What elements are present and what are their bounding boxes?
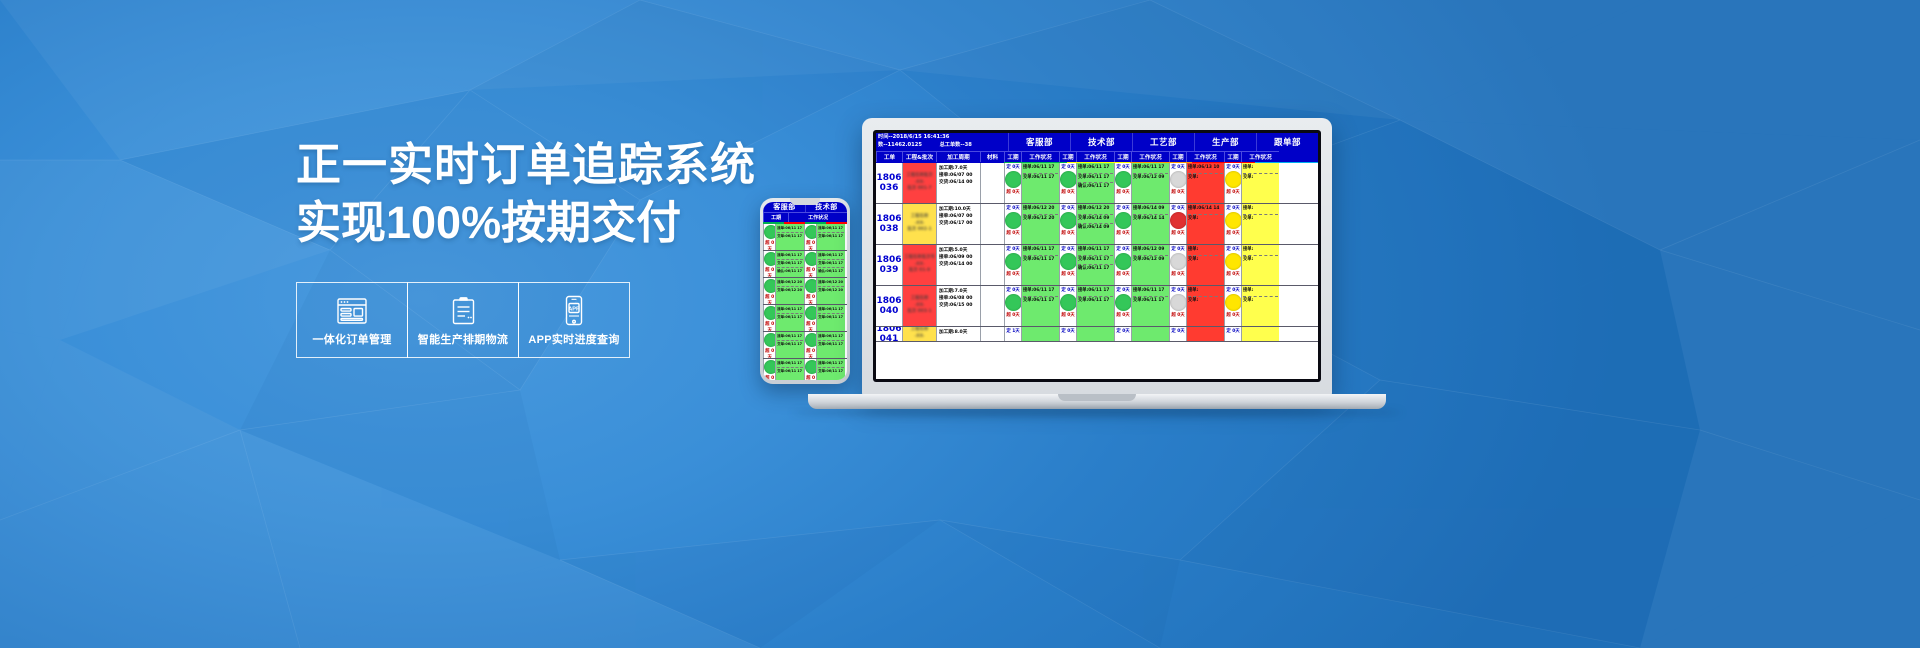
duration-overdue: 超 0天 (764, 294, 775, 304)
status-indicator-dot[interactable] (805, 333, 816, 347)
duration-overdue: 超 0天 (1225, 230, 1241, 236)
work-status-line: 接单:06/12 20 (818, 279, 844, 287)
phone-work-status-cell: 接单:06/11 17交单:06/11 17 (775, 224, 804, 250)
phone-work-status-cell: 接单:06/11 17交单:06/11 17 (816, 332, 845, 358)
work-status-line: 交单:06/11 17 (818, 314, 844, 321)
meta-number: 数--11462.0125 (878, 142, 922, 148)
duration-cell: 定 0天超 0天 (1224, 245, 1241, 285)
work-status-line: 接单: (1188, 287, 1223, 296)
duration-cell: 定 0天超 0天 (1114, 286, 1131, 326)
work-status-cell: 接单:交单: (1186, 245, 1224, 285)
column-header: 工作状况 (1021, 151, 1059, 162)
work-status-line: 交单:06/14 09 (1078, 215, 1113, 224)
phone-work-status-cell: 接单:06/11 17交单:06/11 17 (775, 359, 804, 381)
laptop-base-notch (1058, 394, 1136, 401)
work-status-line: 接单:06/11 17 (818, 225, 844, 233)
order-number-cell: 1806036 (876, 163, 902, 203)
duration-planned: 定 0天 (1170, 245, 1186, 252)
phone-work-status-cell: 接单:06/12 20交单:06/12 20 (816, 278, 845, 304)
duration-overdue: 超 0天 (1005, 189, 1021, 195)
laptop-shadow (792, 409, 1402, 416)
phone-work-status-cell: 接单:06/11 17交单:06/11 17确认:06/11 17 (816, 251, 845, 277)
work-status-line: 确认:06/11 17 (1078, 183, 1113, 191)
work-status-line: 交单: (1188, 297, 1223, 305)
duration-overdue: 超 0天 (764, 348, 775, 358)
duration-planned: 定 0天 (1005, 286, 1021, 293)
work-status-line: 交单: (1188, 174, 1223, 182)
feature-label: 智能生产排期物流 (418, 331, 508, 347)
duration-cell: 定 0天超 0天 (1169, 163, 1186, 203)
column-header: 工作状况 (1241, 151, 1279, 162)
work-status-line: 交单:06/11 17 (1078, 174, 1113, 183)
status-indicator-dot[interactable] (1115, 294, 1131, 311)
work-status-line: 接单:06/11 17 (777, 306, 803, 314)
laptop-bezel: 时间--2018/6/15 16:41:36 数--11462.0125 总工单… (873, 130, 1321, 382)
phone-duration-cell: 超 0天定 0天 (763, 305, 775, 331)
order-tracking-dashboard: 时间--2018/6/15 16:41:36 数--11462.0125 总工单… (876, 133, 1318, 379)
processing-cycle-cell: 加工期:5.0天 接单:06/09 00 交货:06/14 00 (936, 245, 980, 285)
project-batch-cell: 工程名称 -XX- 批次 002-1 (902, 204, 936, 244)
processing-cycle-cell: 加工期:10.0天 接单:06/07 00 交货:06/17 00 (936, 204, 980, 244)
work-status-line: 交单: (1188, 215, 1223, 223)
duration-planned: 定 0天 (1115, 204, 1131, 211)
phone-dashboard: 客服部技术部 工期工作状况工期工作状况 超 0天定 0天接单:06/11 17交… (763, 202, 847, 380)
feature-label: 一体化订单管理 (312, 331, 391, 347)
duration-overdue: 超 0天 (1170, 271, 1186, 277)
phone-table-row[interactable]: 超 0天定 0天接单:06/11 17交单:06/11 17超 0天定 0天接单… (763, 359, 847, 381)
duration-overdue: 超 0天 (805, 321, 816, 331)
work-status-line: 接单:06/12 20 (777, 279, 803, 287)
duration-overdue: 超 0天 (764, 267, 775, 277)
duration-overdue: 超 0天 (1115, 230, 1131, 236)
status-indicator-dot[interactable] (1005, 212, 1021, 229)
work-status-line: 接单:06/13 10 (1188, 164, 1223, 173)
status-indicator-dot[interactable] (1005, 253, 1021, 270)
duration-planned: 定 0天 (1115, 327, 1131, 334)
work-status-line: 交单:06/11 17 (1023, 297, 1058, 305)
work-status-line: 接单: (1243, 205, 1278, 214)
duration-overdue: 超 0天 (1225, 312, 1241, 318)
duration-planned: 定 0天 (1005, 163, 1021, 170)
duration-planned: 定 0天 (1225, 245, 1241, 252)
phone-table-body[interactable]: 超 0天定 0天接单:06/11 17交单:06/11 17超 0天定 0天接单… (763, 224, 847, 381)
column-header: 工作状况 (1186, 151, 1224, 162)
duration-planned: 定 0天 (1005, 245, 1021, 252)
duration-overdue: 超 0天 (764, 375, 775, 381)
duration-planned: 定 0天 (1060, 286, 1076, 293)
duration-overdue: 超 0天 (1060, 189, 1076, 195)
duration-cell: 定 0天超 0天 (1114, 163, 1131, 203)
work-status-line: 接单:06/12 20 (1023, 205, 1058, 214)
laptop-screen[interactable]: 时间--2018/6/15 16:41:36 数--11462.0125 总工单… (876, 133, 1318, 379)
meta-total: 总工单数--38 (940, 142, 972, 148)
duration-planned: 定 0天 (1115, 286, 1131, 293)
column-header: 工期 (1169, 151, 1186, 162)
status-indicator-dot[interactable] (1225, 294, 1241, 311)
work-status-line: 交单:06/12 20 (1023, 215, 1058, 223)
work-status-line: 接单:06/11 17 (1023, 246, 1058, 255)
phone-table-row[interactable]: 超 0天定 0天接单:06/11 17交单:06/11 17超 0天定 0天接单… (763, 224, 847, 251)
processing-cycle-cell: 加工期:7.0天 接单:06/08 00 交货:06/15 00 (936, 286, 980, 326)
duration-cell: 定 0天超 0天 (1224, 163, 1241, 203)
duration-planned: 定 0天 (1060, 204, 1076, 211)
work-status-line: 接单:06/11 17 (818, 306, 844, 314)
work-status-cell: 接单:06/12 20交单:06/12 20 (1021, 204, 1059, 244)
work-status-line: 交单:06/14 14 (1133, 215, 1168, 223)
phone-column-header: 工作状况 (788, 212, 847, 222)
work-status-line: 交单: (1243, 297, 1278, 305)
duration-overdue: 超 0天 (805, 267, 816, 277)
work-status-cell (1186, 327, 1224, 341)
work-status-cell: 接单:06/11 17交单:06/12 09 (1131, 163, 1169, 203)
dashboard-header: 时间--2018/6/15 16:41:36 数--11462.0125 总工单… (876, 133, 1318, 151)
phone-screen[interactable]: 客服部技术部 工期工作状况工期工作状况 超 0天定 0天接单:06/11 17交… (763, 202, 847, 380)
status-indicator-dot[interactable] (1170, 212, 1186, 229)
department-header: 工艺部 (1132, 133, 1194, 151)
work-status-line: 接单:06/11 17 (777, 252, 803, 260)
duration-planned: 定 0天 (1115, 245, 1131, 252)
status-indicator-dot[interactable] (764, 279, 775, 293)
duration-overdue: 超 0天 (1005, 230, 1021, 236)
work-status-line: 交单:06/11 17 (777, 260, 803, 268)
duration-planned: 定 0天 (1170, 286, 1186, 293)
phone-work-status-cell: 接单:06/11 17交单:06/11 17 (816, 305, 845, 331)
duration-cell: 定 0天超 0天 (1114, 245, 1131, 285)
work-status-cell: 接单:交单: (1241, 245, 1279, 285)
duration-planned: 定 0天 (1170, 163, 1186, 170)
duration-planned: 定 0天 (1005, 204, 1021, 211)
duration-planned: 定 0天 (1225, 286, 1241, 293)
status-indicator-dot[interactable] (805, 225, 816, 239)
status-indicator-dot[interactable] (1115, 253, 1131, 270)
laptop-mockup: 时间--2018/6/15 16:41:36 数--11462.0125 总工单… (862, 118, 1332, 418)
status-indicator-dot[interactable] (764, 252, 775, 266)
table-row[interactable]: 1806038工程名称 -XX- 批次 002-1加工期:10.0天 接单:06… (876, 204, 1318, 245)
status-indicator-dot[interactable] (1170, 294, 1186, 311)
headline-line-1: 正一实时订单追踪系统 (296, 136, 916, 194)
phone-work-status-cell: 接单:06/11 17交单:06/11 17 (816, 224, 845, 250)
duration-overdue: 超 0天 (1060, 271, 1076, 277)
status-indicator-dot[interactable] (1225, 212, 1241, 229)
status-indicator-dot[interactable] (1060, 212, 1076, 229)
work-status-line: 接单:06/11 17 (1078, 287, 1113, 296)
status-indicator-dot[interactable] (764, 360, 775, 374)
work-status-cell: 接单:06/11 17交单:06/11 17确认:06/11 17 (1076, 163, 1114, 203)
work-status-line: 接单:06/12 09 (1133, 246, 1168, 255)
duration-overdue: 超 0天 (764, 321, 775, 331)
column-header: 工作状况 (1076, 151, 1114, 162)
duration-cell: 定 0天超 0天 (1169, 286, 1186, 326)
phone-duration-cell: 超 0天定 0天 (763, 251, 775, 277)
status-indicator-dot[interactable] (1115, 212, 1131, 229)
work-status-line: 接单:06/11 17 (818, 333, 844, 341)
work-status-cell: 接单:06/12 09交单:06/12 09 (1131, 245, 1169, 285)
status-indicator-dot[interactable] (764, 225, 775, 239)
duration-planned: 定 0天 (1170, 327, 1186, 334)
column-header: 工程&批次 (902, 151, 936, 162)
table-row[interactable]: 1806036工程名称批次 -XX- 批次 001-7加工期:7.0天 接单:0… (876, 163, 1318, 204)
work-status-line: 交单:06/12 20 (777, 287, 803, 294)
department-header: 技术部 (1070, 133, 1132, 151)
duration-cell: 定 0天 (1224, 327, 1241, 341)
work-status-cell: 接单:06/11 17交单:06/11 17 (1131, 286, 1169, 326)
processing-cycle-cell: 加工期:7.0天 接单:06/07 00 交货:06/14 00 (936, 163, 980, 203)
work-status-line: 接单:06/11 17 (1133, 164, 1168, 173)
phone-duration-cell: 超 0天定 0天 (804, 359, 816, 381)
phone-duration-cell: 超 0天定 0天 (804, 305, 816, 331)
duration-cell: 定 0天超 0天 (1059, 204, 1076, 244)
duration-overdue: 超 0天 (1170, 230, 1186, 236)
work-status-cell: 接单:06/11 17交单:06/11 17 (1076, 286, 1114, 326)
status-indicator-dot[interactable] (805, 252, 816, 266)
phone-work-status-cell: 接单:06/11 17交单:06/11 17 (775, 332, 804, 358)
column-header: 工期 (1004, 151, 1021, 162)
status-indicator-dot[interactable] (1005, 294, 1021, 311)
work-status-line: 接单: (1243, 246, 1278, 255)
column-header: 工期 (1059, 151, 1076, 162)
work-status-line: 接单:06/11 17 (1023, 164, 1058, 173)
work-status-line: 确认:06/11 17 (777, 268, 803, 275)
status-indicator-dot[interactable] (1060, 171, 1076, 188)
status-indicator-dot[interactable] (805, 306, 816, 320)
status-indicator-dot[interactable] (1005, 171, 1021, 188)
status-indicator-dot[interactable] (805, 279, 816, 293)
phone-table-row[interactable]: 超 0天定 0天接单:06/12 20交单:06/12 20超 0天定 0天接单… (763, 278, 847, 305)
work-status-cell: 接单:交单: (1186, 286, 1224, 326)
material-cell (980, 327, 1004, 341)
column-header-row: 工单工程&批次加工周期材料工期工作状况工期工作状况工期工作状况工期工作状况工期工… (876, 151, 1318, 162)
column-header: 材料 (980, 151, 1004, 162)
work-status-line: 交单:06/11 17 (1133, 297, 1168, 305)
duration-planned: 定 0天 (1115, 163, 1131, 170)
duration-planned: 定 0天 (1060, 327, 1076, 334)
duration-cell: 定 0天超 0天 (1224, 204, 1241, 244)
material-cell (980, 204, 1004, 244)
order-number-cell: 1806041 (876, 327, 902, 341)
clipboard-schedule-icon (450, 294, 477, 328)
feature-box-app-progress[interactable]: APP APP实时进度查询 (518, 282, 630, 358)
work-status-line: 交单: (1243, 256, 1278, 264)
status-indicator-dot[interactable] (1060, 294, 1076, 311)
phone-duration-cell: 超 0天定 0天 (763, 359, 775, 381)
work-status-cell (1241, 327, 1279, 341)
work-status-line: 交单:06/11 17 (1078, 297, 1113, 305)
table-row[interactable]: 1806041工程名称 -XX-加工期:8.0天定 1天定 0天定 0天定 0天… (876, 327, 1318, 342)
phone-work-status-cell: 接单:06/11 17交单:06/11 17 (816, 359, 845, 381)
duration-overdue: 超 0天 (1115, 312, 1131, 318)
department-header: 跟单部 (1256, 133, 1318, 151)
duration-planned: 定 0天 (1225, 327, 1241, 334)
duration-cell: 定 0天超 0天 (1224, 286, 1241, 326)
phone-table-row[interactable]: 超 0天定 0天接单:06/11 17交单:06/11 17超 0天定 0天接单… (763, 305, 847, 332)
duration-planned: 定 0天 (1225, 163, 1241, 170)
work-status-cell: 接单:06/11 17交单:06/11 17 (1021, 163, 1059, 203)
project-batch-cell: 工程名称批次 -XX- 批次 001-7 (902, 163, 936, 203)
material-cell (980, 163, 1004, 203)
duration-cell: 定 1天 (1004, 327, 1021, 341)
mobile-app-icon: APP (563, 294, 585, 328)
work-status-line: 交单:06/11 17 (1023, 256, 1058, 264)
status-indicator-dot[interactable] (1170, 171, 1186, 188)
work-status-line: 接单:06/11 17 (1078, 246, 1113, 255)
table-row[interactable]: 1806040工程名称 -XX- 批次 003-1加工期:7.0天 接单:06/… (876, 286, 1318, 327)
duration-overdue: 超 0天 (1005, 271, 1021, 277)
work-status-line: 接单: (1243, 164, 1278, 173)
duration-overdue: 超 0天 (764, 240, 775, 250)
phone-column-header: 工期 (763, 212, 788, 222)
work-status-line: 交单:06/11 17 (1078, 256, 1113, 265)
work-status-line: 交单:06/11 17 (818, 260, 844, 268)
duration-cell: 定 0天 (1059, 327, 1076, 341)
department-row: 客服部技术部工艺部生产部跟单部 (1008, 133, 1318, 151)
status-indicator-dot[interactable] (1225, 171, 1241, 188)
work-status-line: 接单:06/12 20 (1078, 205, 1113, 214)
phone-duration-cell: 超 0天定 0天 (804, 224, 816, 250)
work-status-cell: 接单:06/13 10交单: (1186, 163, 1224, 203)
work-status-line: 接单: (1243, 287, 1278, 296)
work-status-line: 交单:06/12 09 (1133, 174, 1168, 182)
work-status-line: 接单:06/11 17 (818, 360, 844, 368)
department-header: 生产部 (1194, 133, 1256, 151)
project-batch-cell: 工程名称 -XX- (902, 327, 936, 341)
work-status-cell: 接单:06/11 17交单:06/11 17确认:06/11 17 (1076, 245, 1114, 285)
work-status-line: 交单:06/11 17 (818, 341, 844, 348)
work-status-line: 接单:06/14 09 (1133, 205, 1168, 214)
order-number-cell: 1806038 (876, 204, 902, 244)
column-header: 工单 (876, 151, 902, 162)
work-status-line: 交单:06/11 17 (777, 233, 803, 240)
duration-overdue: 超 0天 (805, 294, 816, 304)
duration-cell: 定 0天超 0天 (1004, 163, 1021, 203)
status-indicator-dot[interactable] (764, 306, 775, 320)
duration-cell: 定 0天超 0天 (1169, 204, 1186, 244)
laptop-lid: 时间--2018/6/15 16:41:36 数--11462.0125 总工单… (862, 118, 1332, 396)
status-indicator-dot[interactable] (764, 333, 775, 347)
work-status-cell: 接单:交单: (1241, 286, 1279, 326)
order-number-cell: 1806039 (876, 245, 902, 285)
work-status-line: 交单:06/11 17 (777, 341, 803, 348)
work-status-line: 接单:06/11 17 (1023, 287, 1058, 296)
duration-cell: 定 0天超 0天 (1059, 245, 1076, 285)
duration-cell: 定 0天超 0天 (1059, 286, 1076, 326)
work-status-cell: 接单:06/12 20交单:06/14 09确认:06/14 09 (1076, 204, 1114, 244)
dashboard-layout-icon (337, 294, 367, 328)
phone-duration-cell: 超 0天定 0天 (804, 251, 816, 277)
phone-duration-cell: 超 0天定 0天 (763, 278, 775, 304)
feature-box-production-scheduling[interactable]: 智能生产排期物流 (407, 282, 519, 358)
phone-work-status-cell: 接单:06/12 20交单:06/12 20 (775, 278, 804, 304)
duration-cell: 定 0天超 0天 (1004, 286, 1021, 326)
phone-table-row[interactable]: 超 0天定 0天接单:06/11 17交单:06/11 17确认:06/11 1… (763, 251, 847, 278)
work-status-line: 交单:06/12 09 (1133, 256, 1168, 264)
meta-time: 时间--2018/6/15 16:41:36 (878, 134, 1006, 142)
phone-notch (790, 198, 820, 205)
work-status-line: 接单:06/11 17 (777, 360, 803, 368)
work-status-line: 确认:06/11 17 (1078, 265, 1113, 273)
svg-text:APP: APP (568, 306, 580, 312)
table-row[interactable]: 1806039工程名称批次号 -XX- 批次 01-9加工期:5.0天 接单:0… (876, 245, 1318, 286)
duration-cell: 定 0天 (1114, 327, 1131, 341)
feature-box-order-management[interactable]: 一体化订单管理 (296, 282, 408, 358)
status-indicator-dot[interactable] (805, 360, 816, 374)
work-status-cell (1131, 327, 1169, 341)
work-status-cell: 接单:06/11 17交单:06/11 17 (1021, 286, 1059, 326)
duration-cell: 定 0天超 0天 (1059, 163, 1076, 203)
duration-overdue: 超 0天 (1170, 189, 1186, 195)
work-status-line: 接单: (1188, 246, 1223, 255)
phone-duration-cell: 超 0天定 0天 (804, 278, 816, 304)
column-header: 工作状况 (1131, 151, 1169, 162)
work-status-line: 接单:06/11 17 (777, 333, 803, 341)
duration-overdue: 超 0天 (805, 375, 816, 381)
status-indicator-dot[interactable] (1115, 171, 1131, 188)
work-status-line: 接单:06/11 17 (777, 225, 803, 233)
duration-overdue: 超 0天 (1005, 312, 1021, 318)
work-status-line: 交单: (1243, 174, 1278, 182)
work-status-cell: 接单:06/11 17交单:06/11 17 (1021, 245, 1059, 285)
duration-cell: 定 0天超 0天 (1004, 245, 1021, 285)
duration-planned: 定 0天 (1060, 163, 1076, 170)
phone-duration-cell: 超 0天定 0天 (763, 224, 775, 250)
phone-work-status-cell: 接单:06/11 17交单:06/11 17确认:06/11 17 (775, 251, 804, 277)
phone-duration-cell: 超 0天定 0天 (804, 332, 816, 358)
dashboard-meta: 时间--2018/6/15 16:41:36 数--11462.0125 总工单… (876, 133, 1008, 151)
work-status-line: 交单:06/11 17 (818, 368, 844, 375)
duration-overdue: 超 0天 (805, 348, 816, 358)
work-status-cell (1076, 327, 1114, 341)
status-indicator-dot[interactable] (1225, 253, 1241, 270)
dashboard-table-body[interactable]: 1806036工程名称批次 -XX- 批次 001-7加工期:7.0天 接单:0… (876, 163, 1318, 342)
duration-planned: 定 0天 (1225, 204, 1241, 211)
work-status-line: 接单:06/11 17 (1078, 164, 1113, 173)
project-batch-cell: 工程名称批次号 -XX- 批次 01-9 (902, 245, 936, 285)
department-header: 客服部 (1008, 133, 1070, 151)
status-indicator-dot[interactable] (1060, 253, 1076, 270)
phone-mockup: 客服部技术部 工期工作状况工期工作状况 超 0天定 0天接单:06/11 17交… (760, 198, 850, 384)
duration-overdue: 超 0天 (1115, 271, 1131, 277)
phone-table-row[interactable]: 超 0天定 0天接单:06/11 17交单:06/11 17超 0天定 0天接单… (763, 332, 847, 359)
order-number-cell: 1806040 (876, 286, 902, 326)
meta-number-and-total: 数--11462.0125 总工单数--38 (878, 142, 1006, 150)
column-header: 工期 (1114, 151, 1131, 162)
material-cell (980, 245, 1004, 285)
work-status-line: 交单:06/12 20 (818, 287, 844, 294)
work-status-line: 交单: (1188, 256, 1223, 264)
phone-work-status-cell: 接单:06/11 17交单:06/11 17 (775, 305, 804, 331)
work-status-cell (1021, 327, 1059, 341)
duration-overdue: 超 0天 (1225, 271, 1241, 277)
project-batch-cell: 工程名称 -XX- 批次 003-1 (902, 286, 936, 326)
work-status-cell: 接单:06/14 14交单: (1186, 204, 1224, 244)
feature-label: APP实时进度查询 (528, 331, 619, 347)
duration-overdue: 超 0天 (1060, 230, 1076, 236)
phone-duration-cell: 超 0天定 0天 (763, 332, 775, 358)
duration-planned: 定 0天 (1060, 245, 1076, 252)
duration-overdue: 超 0天 (1060, 312, 1076, 318)
duration-cell: 定 0天超 0天 (1004, 204, 1021, 244)
duration-cell: 定 0天超 0天 (1114, 204, 1131, 244)
work-status-line: 确认:06/11 17 (818, 268, 844, 275)
work-status-line: 交单:06/11 17 (777, 368, 803, 375)
material-cell (980, 286, 1004, 326)
work-status-line: 接单:06/11 17 (818, 252, 844, 260)
duration-planned: 定 0天 (1170, 204, 1186, 211)
work-status-line: 交单:06/11 17 (777, 314, 803, 321)
processing-cycle-cell: 加工期:8.0天 (936, 327, 980, 341)
work-status-line: 交单:06/11 17 (818, 233, 844, 240)
status-indicator-dot[interactable] (1170, 253, 1186, 270)
phone-column-header-row: 工期工作状况工期工作状况 (763, 212, 847, 222)
